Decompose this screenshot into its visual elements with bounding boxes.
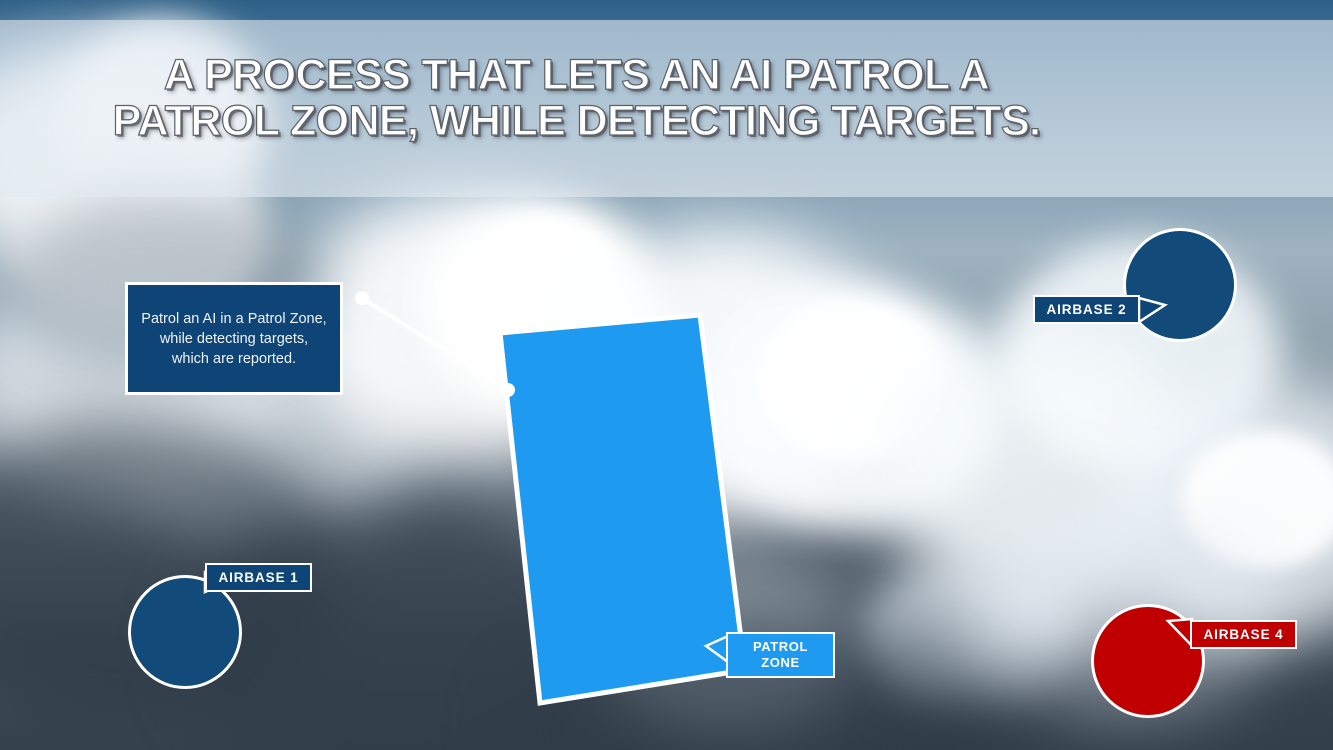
info-callout[interactable]: Patrol an AI in a Patrol Zone, while det… xyxy=(125,282,343,395)
slide-canvas: A PROCESS THAT LETS AN AI PATROL A PATRO… xyxy=(0,0,1333,750)
diagram-shapes: AIRBASE 1 AIRBASE 2 AIRBASE 4 PATROL ZON… xyxy=(0,0,1333,750)
patrol-zone-label[interactable]: PATROL ZONE xyxy=(726,632,835,678)
info-callout-line-3: which are reported. xyxy=(141,349,326,369)
patrol-zone-label-line-1: PATROL xyxy=(753,639,808,655)
patrol-zone-label-line-2: ZONE xyxy=(761,655,800,671)
info-callout-line-2: while detecting targets, xyxy=(141,329,326,349)
info-callout-line-1: Patrol an AI in a Patrol Zone, xyxy=(141,309,326,329)
info-callout-text: Patrol an AI in a Patrol Zone, while det… xyxy=(141,309,326,369)
